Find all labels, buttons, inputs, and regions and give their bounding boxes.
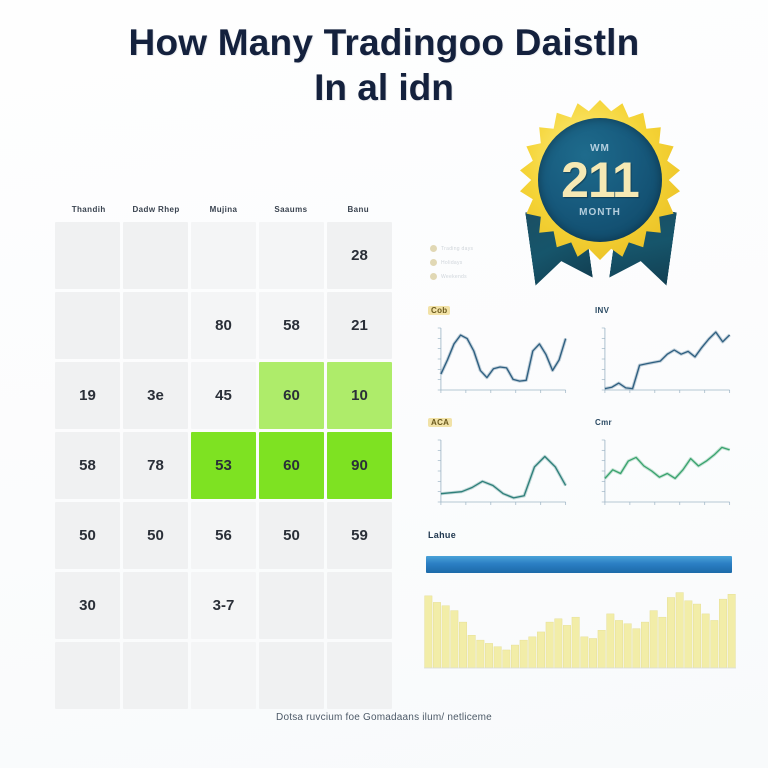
calendar-day-cell[interactable] <box>327 572 392 639</box>
calendar-day-cell[interactable] <box>191 642 256 709</box>
list-item: Holidays <box>430 258 540 267</box>
calendar-day-header: Banu <box>325 196 392 222</box>
legend-label: Weekends <box>441 274 467 280</box>
list-item: Weekends <box>430 272 540 281</box>
calendar-day-header: Thandih <box>55 196 122 222</box>
line-chart-top-right <box>588 322 736 402</box>
line-chart-top-left <box>424 322 572 402</box>
chart-card-mid-right[interactable]: Cmr <box>588 418 736 516</box>
calendar-day-cell[interactable] <box>55 642 120 709</box>
chart-title: INV <box>592 306 612 315</box>
badge-top-label: WM <box>590 143 610 154</box>
calendar-day-cell[interactable]: 28 <box>327 222 392 289</box>
bar-chart-volume <box>424 586 736 674</box>
calendar-day-cell[interactable] <box>259 642 324 709</box>
calendar-day-cell[interactable]: 53 <box>191 432 256 499</box>
calendar-day-cell[interactable]: 50 <box>259 502 324 569</box>
calendar-day-cell[interactable]: 60 <box>259 432 324 499</box>
legend-dot-icon <box>430 259 437 266</box>
infographic-page: How Many Tradingoo Daistln In al idn WM … <box>0 0 768 768</box>
calendar-day-header: Dadw Rhep <box>122 196 189 222</box>
legend-label: Trading days <box>441 246 473 252</box>
calendar-day-cell[interactable] <box>327 642 392 709</box>
calendar-day-cell[interactable]: 45 <box>191 362 256 429</box>
chart-row-mid: ACA Cmr <box>424 418 736 516</box>
mini-legend: Trading days Holidays Weekends <box>430 244 540 286</box>
calendar-day-cell[interactable]: 78 <box>123 432 188 499</box>
chart-card-volume[interactable]: Lahue <box>424 530 736 678</box>
legend-dot-icon <box>430 245 437 252</box>
charts-panel: Cob INV ACA Cmr Lahue <box>424 306 736 678</box>
title-line-1: How Many Tradingoo Daistln <box>0 22 768 65</box>
calendar-day-cell[interactable]: 58 <box>259 292 324 359</box>
calendar-day-header: Saaums <box>257 196 324 222</box>
trading-days-calendar: ThandihDadw RhepMujinaSaaumsBanu 2880582… <box>55 196 392 709</box>
calendar-day-cell[interactable] <box>55 292 120 359</box>
calendar-day-cell[interactable]: 80 <box>191 292 256 359</box>
calendar-day-cell[interactable]: 58 <box>55 432 120 499</box>
calendar-day-cell[interactable] <box>123 222 188 289</box>
calendar-day-cell[interactable] <box>123 292 188 359</box>
calendar-day-cell[interactable] <box>191 222 256 289</box>
summary-bar <box>426 556 732 573</box>
calendar-day-cell[interactable]: 56 <box>191 502 256 569</box>
chart-card-mid-left[interactable]: ACA <box>424 418 572 516</box>
calendar-day-cell[interactable] <box>259 222 324 289</box>
calendar-day-cell[interactable]: 50 <box>55 502 120 569</box>
calendar-day-cell[interactable]: 59 <box>327 502 392 569</box>
calendar-day-cell[interactable] <box>55 222 120 289</box>
chart-title: ACA <box>428 418 452 427</box>
badge-number: 211 <box>561 155 639 205</box>
calendar-day-cell[interactable]: 30 <box>55 572 120 639</box>
chart-title: Cob <box>428 306 450 315</box>
chart-title: Lahue <box>428 530 456 540</box>
calendar-day-cell[interactable]: 90 <box>327 432 392 499</box>
list-item: Trading days <box>430 244 540 253</box>
footer-caption: Dotsa ruvcium foe Gomadaans ilum/ netlic… <box>0 712 768 723</box>
calendar-header-row: ThandihDadw RhepMujinaSaaumsBanu <box>55 196 392 222</box>
calendar-day-cell[interactable]: 19 <box>55 362 120 429</box>
badge-disc: WM 211 MONTH <box>538 118 662 242</box>
calendar-day-cell[interactable]: 10 <box>327 362 392 429</box>
calendar-day-cell[interactable]: 21 <box>327 292 392 359</box>
calendar-day-cell[interactable]: 3-7 <box>191 572 256 639</box>
calendar-day-cell[interactable]: 3e <box>123 362 188 429</box>
legend-label: Holidays <box>441 260 463 266</box>
chart-card-top-right[interactable]: INV <box>588 306 736 404</box>
legend-dot-icon <box>430 273 437 280</box>
calendar-day-cell[interactable] <box>123 642 188 709</box>
calendar-day-header: Mujina <box>190 196 257 222</box>
calendar-day-cell[interactable]: 50 <box>123 502 188 569</box>
chart-row-top: Cob INV <box>424 306 736 404</box>
calendar-day-cell[interactable] <box>259 572 324 639</box>
calendar-day-cell[interactable] <box>123 572 188 639</box>
line-chart-mid-left <box>424 434 572 514</box>
chart-title: Cmr <box>592 418 615 427</box>
chart-card-top-left[interactable]: Cob <box>424 306 572 404</box>
calendar-grid: 28805821193e4560105878536090505056505930… <box>55 222 392 709</box>
calendar-day-cell[interactable]: 60 <box>259 362 324 429</box>
line-chart-mid-right <box>588 434 736 514</box>
page-title: How Many Tradingoo Daistln In al idn <box>0 22 768 111</box>
badge-bottom-label: MONTH <box>579 207 621 218</box>
